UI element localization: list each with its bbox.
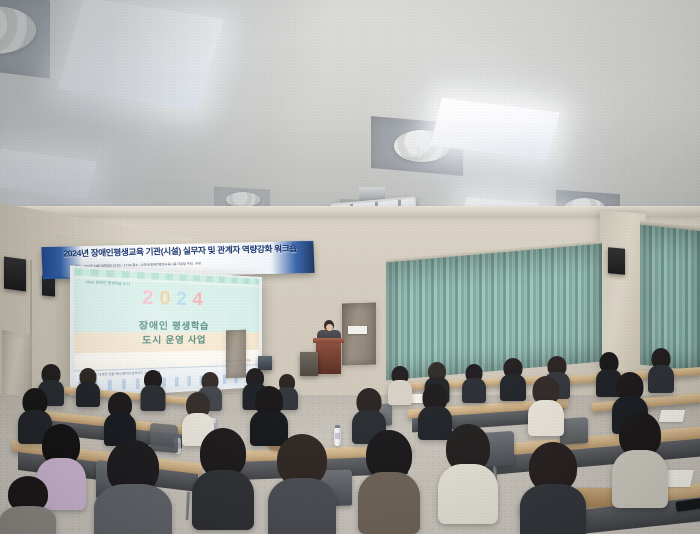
attendee [94,440,172,534]
wall-cornice [0,206,700,218]
slide-year: 2024 [75,285,259,310]
attendee [500,358,526,400]
attendee [520,442,586,534]
attendee [104,392,136,442]
slide-year-digit: 2 [175,289,191,308]
attendee [388,366,412,404]
slide-year-digit: 4 [191,290,207,309]
attendee [76,368,100,406]
attendee [438,424,498,520]
presenter-face [326,324,333,331]
podium-top [313,338,344,343]
attendee [648,348,674,392]
stage-door[interactable] [342,303,376,366]
wall-speaker-icon [608,247,625,274]
attendee [0,476,56,534]
slide-year-digit: 0 [158,288,175,307]
attendee [192,428,254,524]
bottle-cap [335,425,340,428]
door-sign [348,326,367,334]
wall-speaker-icon [4,256,26,291]
attendee [612,412,668,504]
slide-year-digit: 2 [141,288,158,308]
attendee [462,364,486,402]
podium [316,341,341,374]
av-cabinet [300,352,318,376]
chair [560,417,588,445]
conference-room-photo: 2024년 장애인평생교육 기관(시설) 실무자 및 관계자 역량강화 워크숍 … [0,0,700,534]
attendee [140,370,165,410]
attendee [268,434,336,534]
attendee [528,376,564,432]
attendee [358,430,420,530]
